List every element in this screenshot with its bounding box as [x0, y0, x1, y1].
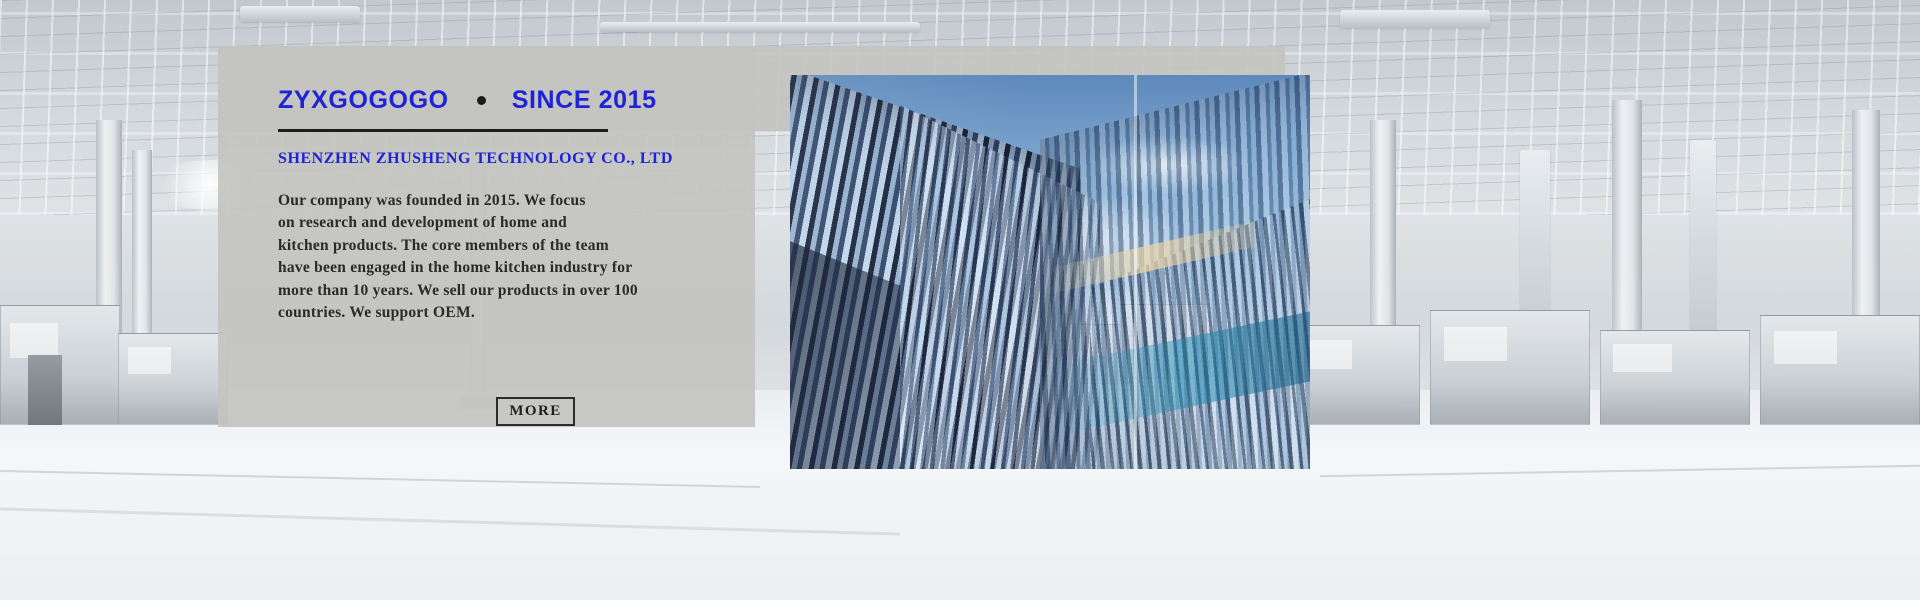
description-line: have been engaged in the home kitchen in… [278, 257, 735, 279]
description-line: Our company was founded in 2015. We focu… [278, 190, 735, 212]
more-button[interactable]: MORE [496, 397, 575, 426]
description-line: kitchen products. The core members of th… [278, 235, 735, 257]
glass-office-buildings-photo [790, 75, 1310, 469]
bullet-dot-icon [477, 96, 486, 105]
about-panel: ZYXGOGOGO SINCE 2015 SHENZHEN ZHUSHENG T… [218, 46, 755, 427]
headline: ZYXGOGOGO SINCE 2015 [278, 86, 735, 115]
photo-vertical-seam [1134, 75, 1137, 469]
company-description: Our company was founded in 2015. We focu… [278, 190, 735, 324]
description-line: on research and development of home and [278, 212, 735, 234]
brand-name: ZYXGOGOGO [278, 86, 449, 115]
company-name: SHENZHEN ZHUSHENG TECHNOLOGY CO., LTD [278, 150, 735, 168]
since-label: SINCE 2015 [512, 86, 657, 115]
about-panel-content: ZYXGOGOGO SINCE 2015 SHENZHEN ZHUSHENG T… [278, 86, 735, 324]
description-line: countries. We support OEM. [278, 302, 735, 324]
description-line: more than 10 years. We sell our products… [278, 280, 735, 302]
divider-rule [278, 129, 608, 132]
